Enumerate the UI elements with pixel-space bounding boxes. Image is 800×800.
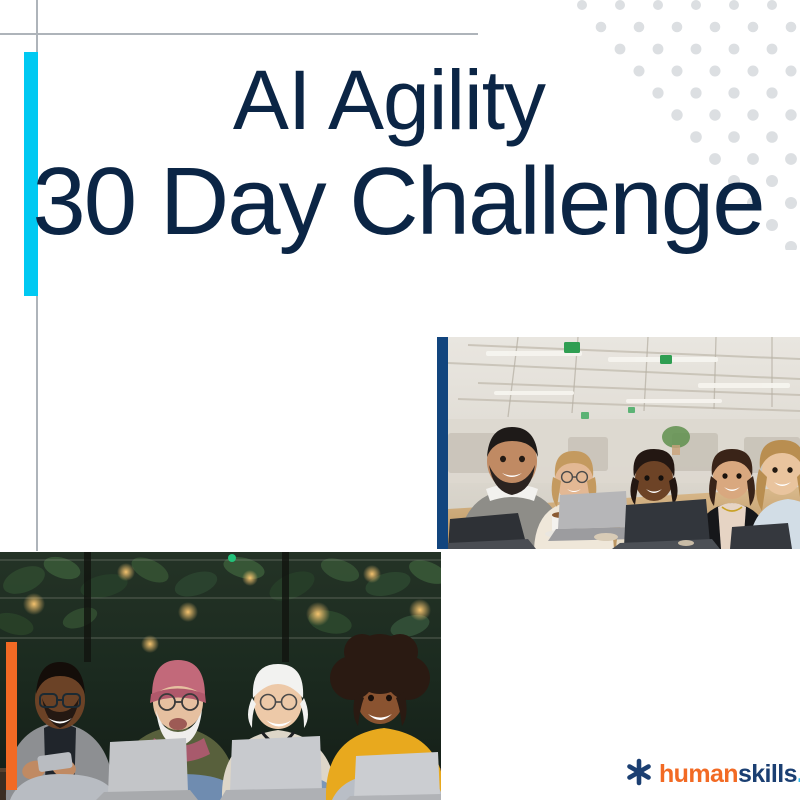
logo-word-skills: skills (738, 760, 797, 788)
headline-line-1: AI Agility (0, 58, 800, 142)
logo-wordmark: humanskills.ai (659, 762, 800, 787)
humanskills-logo[interactable]: humanskills.ai (626, 758, 800, 791)
headline-line-2: 30 Day Challenge (0, 154, 800, 250)
top-horizontal-rule (0, 33, 478, 35)
logo-word-human: human (659, 760, 738, 788)
headline-block: AI Agility 30 Day Challenge (0, 58, 800, 250)
promo-graphic-canvas: AI Agility 30 Day Challenge (0, 0, 800, 800)
photo-team-office (437, 337, 800, 549)
orange-accent-bar (6, 642, 17, 790)
photo-bench-group (0, 552, 441, 800)
asterisk-icon (626, 758, 652, 791)
